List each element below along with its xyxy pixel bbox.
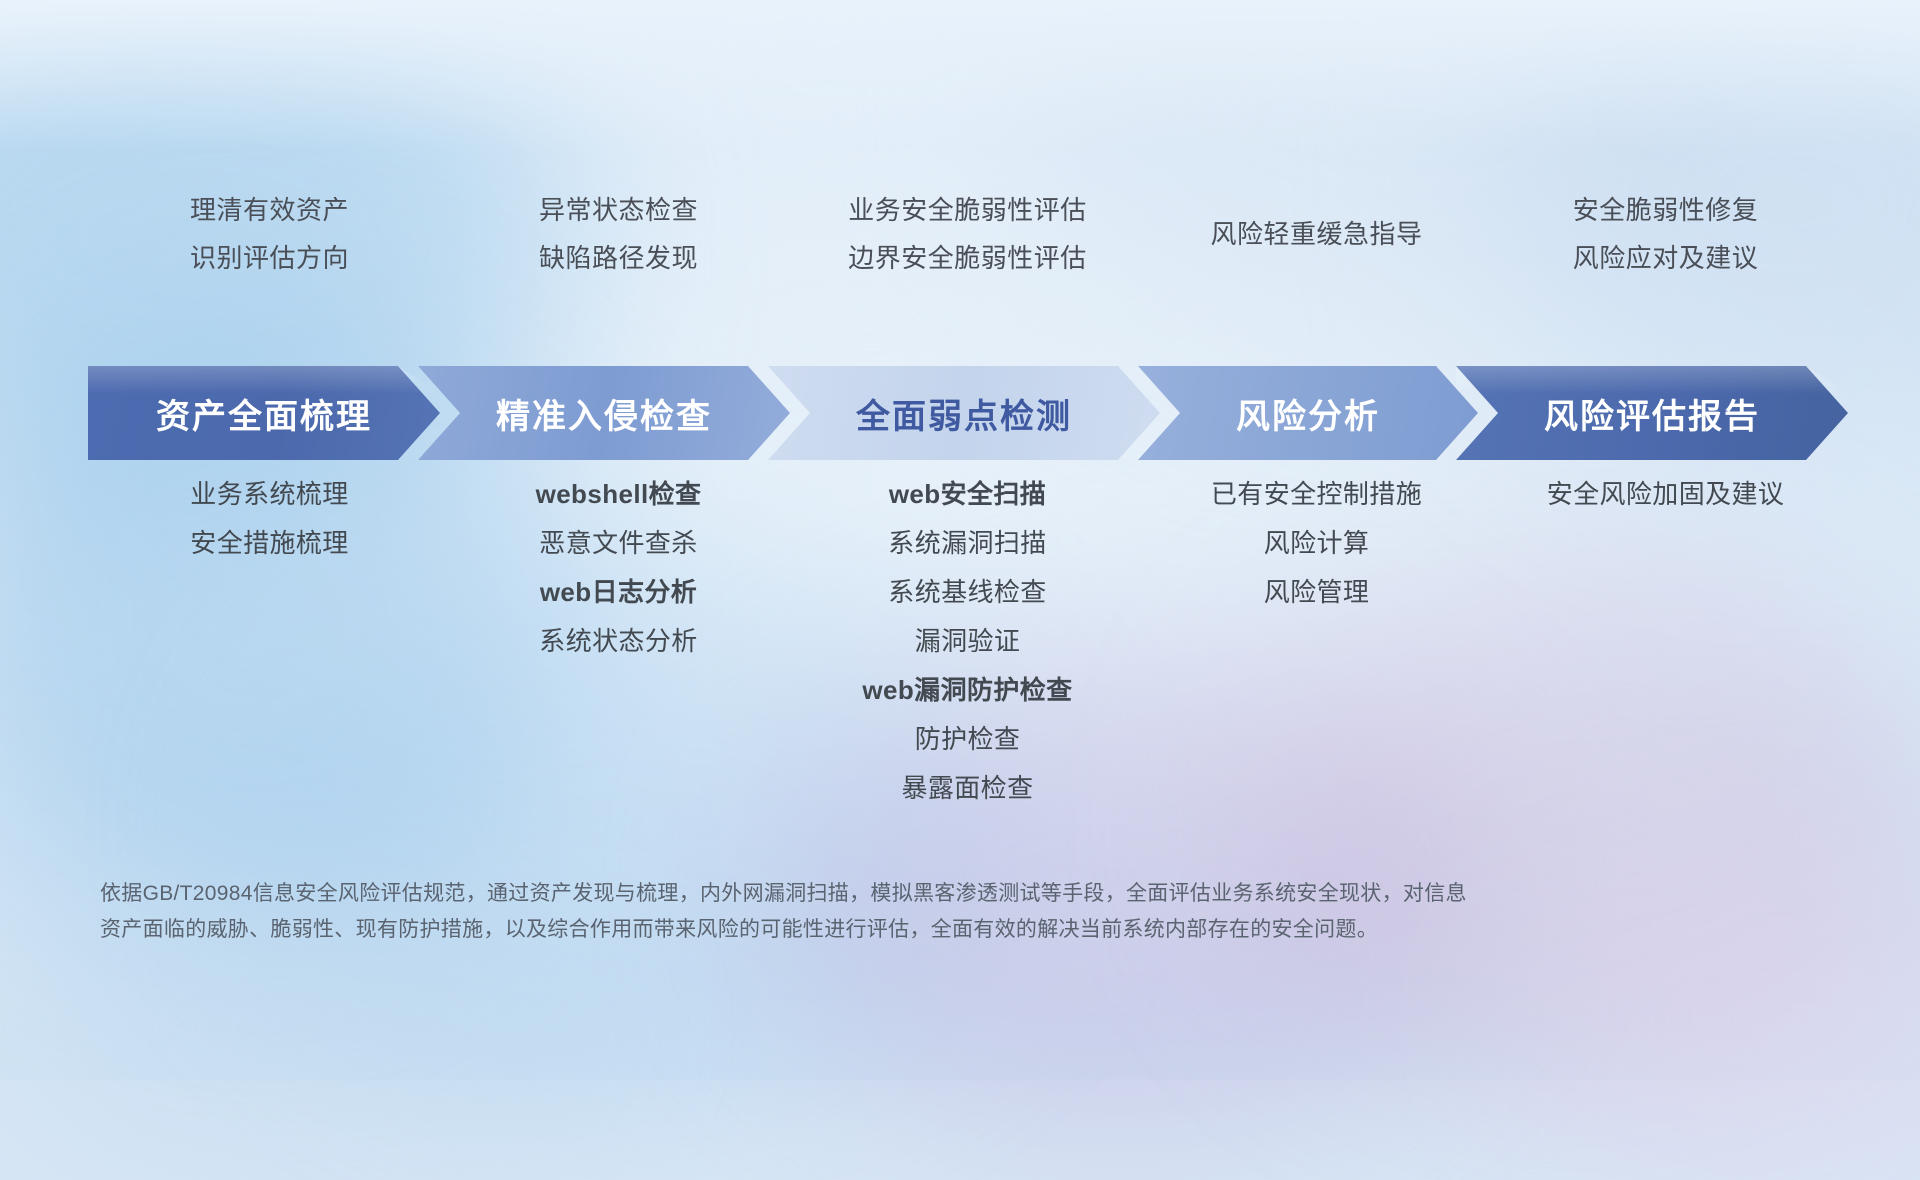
stage-chevron-2[interactable]: 精准入侵检查 <box>418 366 790 460</box>
stage-outcomes-2: 异常状态检查 缺陷路径发现 <box>444 186 793 282</box>
activity-text: 系统状态分析 <box>539 617 697 666</box>
outcome-text: 识别评估方向 <box>190 234 349 282</box>
stage-outcomes-3: 业务安全脆弱性评估 边界安全脆弱性评估 <box>793 186 1142 282</box>
stage-title: 精准入侵检查 <box>496 389 712 438</box>
stage-outcomes-1: 理清有效资产 识别评估方向 <box>95 186 444 282</box>
activity-text: 安全措施梳理 <box>190 519 348 568</box>
stage-chevron-4[interactable]: 风险分析 <box>1138 366 1478 460</box>
stage-title: 风险评估报告 <box>1544 389 1760 438</box>
stage-title: 资产全面梳理 <box>156 389 372 438</box>
activity-text: 暴露面检查 <box>901 764 1033 813</box>
stage-chevron-5[interactable]: 风险评估报告 <box>1456 366 1848 460</box>
activity-text: 业务系统梳理 <box>190 470 348 519</box>
outcome-text: 边界安全脆弱性评估 <box>848 234 1087 282</box>
outcome-text: 安全脆弱性修复 <box>1573 186 1759 234</box>
stage-activities-4: 已有安全控制措施 风险计算 风险管理 <box>1142 470 1491 770</box>
footer-description: 依据GB/T20984信息安全风险评估规范，通过资产发现与梳理，内外网漏洞扫描，… <box>100 876 1640 948</box>
outcome-text: 风险应对及建议 <box>1573 234 1759 282</box>
activity-text: 安全风险加固及建议 <box>1547 470 1785 519</box>
stage-outcomes-5: 安全脆弱性修复 风险应对及建议 <box>1491 186 1840 282</box>
outcome-text: 风险轻重缓急指导 <box>1210 210 1422 258</box>
activity-text: 防护检查 <box>915 715 1021 764</box>
stage-chevron-1[interactable]: 资产全面梳理 <box>88 366 440 460</box>
process-diagram: 理清有效资产 识别评估方向 异常状态检查 缺陷路径发现 业务安全脆弱性评估 边界… <box>0 0 1920 1080</box>
activity-text: 已有安全控制措施 <box>1211 470 1422 519</box>
outcome-text: 缺陷路径发现 <box>539 234 698 282</box>
stage-title: 风险分析 <box>1236 389 1380 438</box>
activity-text: 恶意文件查杀 <box>539 519 697 568</box>
activity-text: 漏洞验证 <box>915 617 1021 666</box>
activity-text: 系统基线检查 <box>888 568 1046 617</box>
stage-title: 全面弱点检测 <box>856 389 1072 438</box>
outcome-text: 异常状态检查 <box>539 186 698 234</box>
stage-activities-5: 安全风险加固及建议 <box>1491 470 1840 770</box>
stage-activities-3: web安全扫描 系统漏洞扫描 系统基线检查 漏洞验证 web漏洞防护检查 防护检… <box>793 470 1142 770</box>
stage-activities-1: 业务系统梳理 安全措施梳理 <box>95 470 444 770</box>
activity-text: webshell检查 <box>536 470 702 519</box>
stage-activities-row: 业务系统梳理 安全措施梳理 webshell检查 恶意文件查杀 web日志分析 … <box>95 470 1840 770</box>
outcome-text: 理清有效资产 <box>190 186 349 234</box>
footer-line-1: 依据GB/T20984信息安全风险评估规范，通过资产发现与梳理，内外网漏洞扫描，… <box>100 876 1640 912</box>
stage-chevron-band: 资产全面梳理 精准入侵检查 全面弱点检测 风险分析 风险评估报告 <box>88 366 1848 460</box>
stage-chevron-3[interactable]: 全面弱点检测 <box>768 366 1160 460</box>
stage-outcomes-4: 风险轻重缓急指导 <box>1142 186 1491 282</box>
stage-outcomes-row: 理清有效资产 识别评估方向 异常状态检查 缺陷路径发现 业务安全脆弱性评估 边界… <box>95 186 1840 282</box>
activity-text: 风险管理 <box>1264 568 1370 617</box>
activity-text: web漏洞防护检查 <box>862 666 1072 715</box>
activity-text: 风险计算 <box>1264 519 1370 568</box>
outcome-text: 业务安全脆弱性评估 <box>848 186 1087 234</box>
footer-line-2: 资产面临的威胁、脆弱性、现有防护措施，以及综合作用而带来风险的可能性进行评估，全… <box>100 912 1640 948</box>
activity-text: web日志分析 <box>540 568 697 617</box>
stage-activities-2: webshell检查 恶意文件查杀 web日志分析 系统状态分析 <box>444 470 793 770</box>
activity-text: 系统漏洞扫描 <box>888 519 1046 568</box>
activity-text: web安全扫描 <box>889 470 1046 519</box>
